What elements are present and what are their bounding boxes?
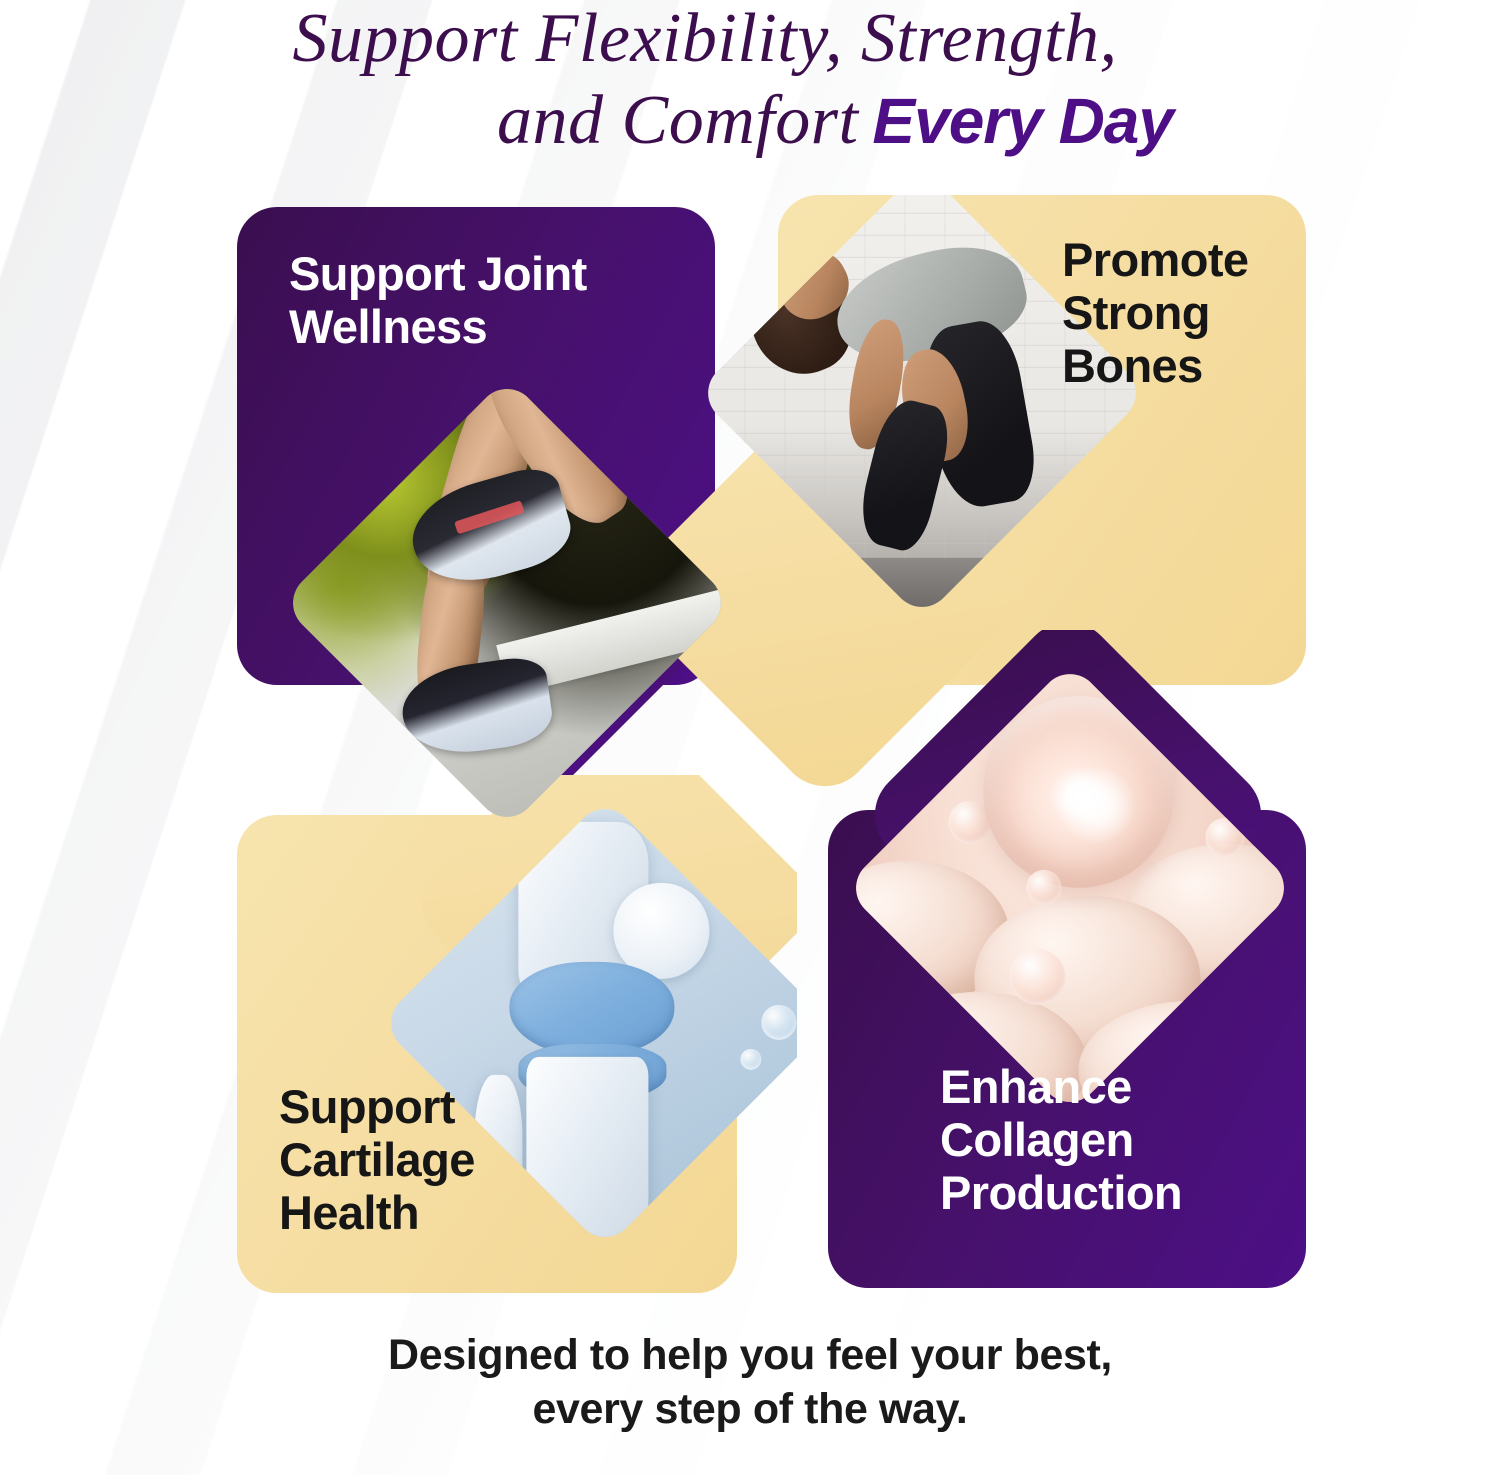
benefit-card-enhance-collagen-production[interactable]: Enhance Collagen Production [800,630,1330,1320]
benefit-card-title-2: Promote Strong Bones [1062,233,1302,392]
benefit-card-title-4: Enhance Collagen Production [940,1060,1280,1219]
benefit-card-title-3: Support Cartilage Health [279,1080,539,1239]
headline-emphasis-text: Every Day [872,85,1173,157]
headline-line-2: and ComfortEvery Day [0,86,1500,156]
benefit-card-title-1: Support Joint Wellness [289,247,679,353]
sphere-light-flare [1057,766,1135,844]
benefit-card-support-cartilage-health[interactable]: Support Cartilage Health [237,775,797,1315]
benefit-cards-grid: Support Joint Wellness Promote Strong Bo… [0,175,1500,1315]
headline-line-1: Support Flexibility, Strength, [0,4,1500,74]
headline: Support Flexibility, Strength, and Comfo… [0,4,1500,156]
headline-line-2-serif-text: and Comfort [497,82,858,159]
fluid-droplet-1 [762,1006,797,1041]
fluid-droplet-2 [740,1049,762,1071]
footer-tagline: Designed to help you feel your best, eve… [0,1328,1500,1436]
headline-line-1-text: Support Flexibility, Strength, [292,0,1117,77]
